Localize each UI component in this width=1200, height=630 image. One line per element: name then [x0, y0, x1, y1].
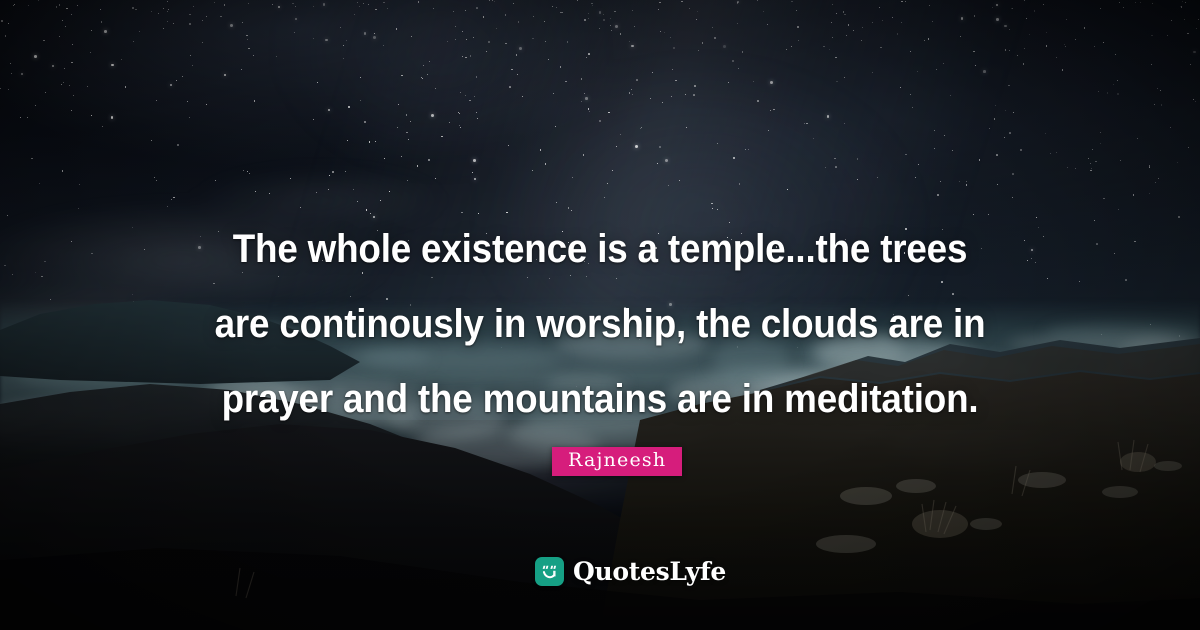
logo-wordmark: QuotesLyfe [573, 557, 726, 586]
quote-block: The whole existence is a temple...the tr… [0, 212, 1200, 437]
quote-line-1: The whole existence is a temple...the tr… [48, 212, 1152, 287]
quote-card: The whole existence is a temple...the tr… [0, 0, 1200, 630]
quote-line-3: prayer and the mountains are in meditati… [48, 362, 1152, 437]
quoteslyfe-logo[interactable]: QuotesLyfe [535, 557, 726, 586]
quote-line-2: are continously in worship, the clouds a… [48, 287, 1152, 362]
author-badge: Rajneesh [552, 447, 682, 476]
quote-smiley-icon [535, 557, 564, 586]
